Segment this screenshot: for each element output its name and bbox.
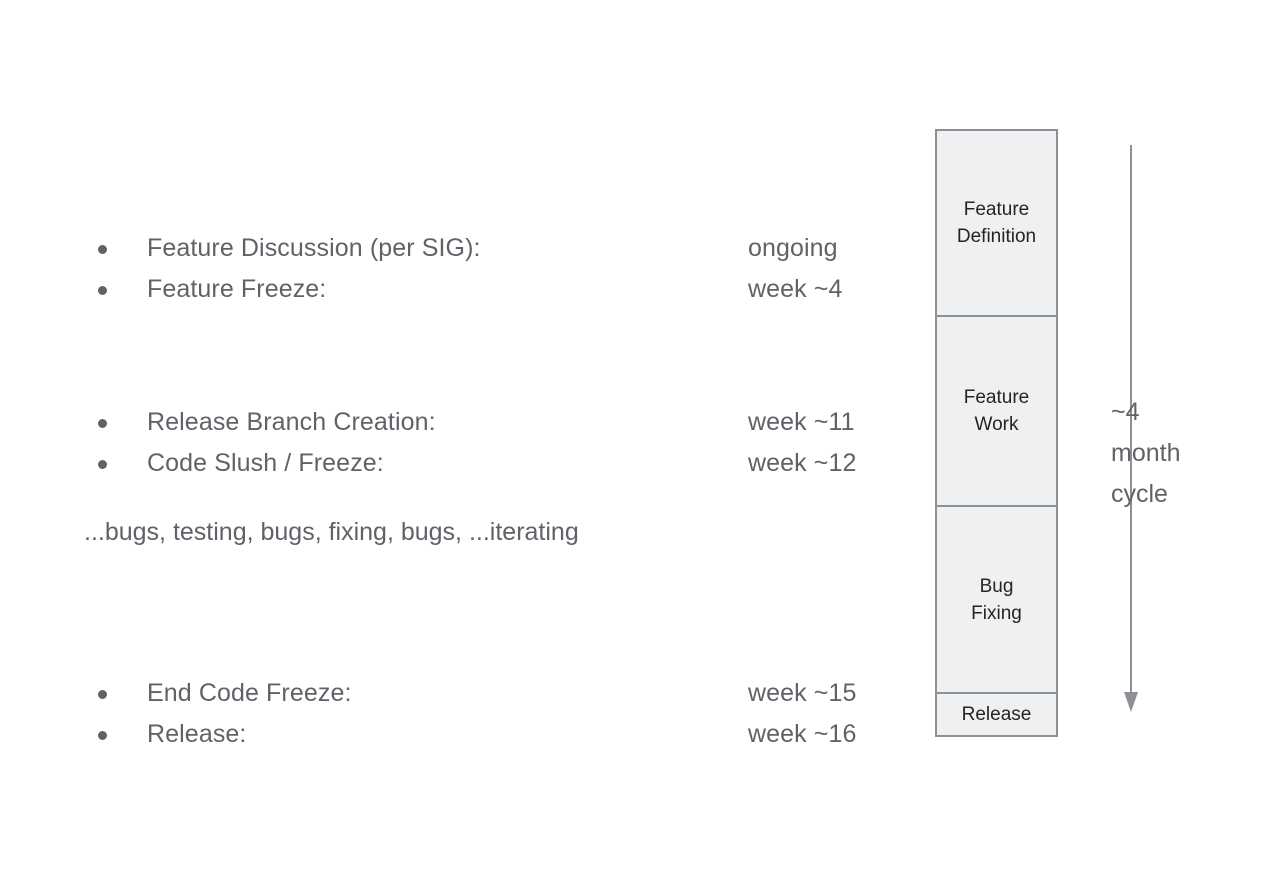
bullet-icon <box>98 460 107 469</box>
phase-label: Release <box>962 701 1032 728</box>
schedule-group-feature-work: Release Branch Creation: week ~11 Code S… <box>88 402 888 553</box>
phase-segment-release: Release <box>937 692 1056 735</box>
schedule-row: End Code Freeze: week ~15 <box>88 673 888 714</box>
schedule-row: Feature Discussion (per SIG): ongoing <box>88 228 888 269</box>
schedule-row-label: Code Slush / Freeze: <box>147 443 384 484</box>
phase-segment-bug-fixing: Bug Fixing <box>937 505 1056 692</box>
schedule-row-value: week ~12 <box>748 443 857 484</box>
phase-label: Bug Fixing <box>971 573 1022 627</box>
release-schedule-list: Feature Discussion (per SIG): ongoing Fe… <box>88 228 888 755</box>
bullet-icon <box>98 286 107 295</box>
phase-label: Feature Work <box>964 384 1029 438</box>
schedule-row: Release Branch Creation: week ~11 <box>88 402 888 443</box>
schedule-row: Feature Freeze: week ~4 <box>88 269 888 310</box>
schedule-row-label: Feature Discussion (per SIG): <box>147 228 481 269</box>
schedule-row: Code Slush / Freeze: week ~12 <box>88 443 888 484</box>
schedule-group-release: End Code Freeze: week ~15 Release: week … <box>88 673 888 755</box>
phase-label: Feature Definition <box>957 196 1036 250</box>
bullet-icon <box>98 690 107 699</box>
schedule-row: Release: week ~16 <box>88 714 888 755</box>
schedule-row-value: week ~11 <box>748 402 855 443</box>
schedule-row-label: End Code Freeze: <box>147 673 352 714</box>
schedule-row-value: week ~16 <box>748 714 857 755</box>
phase-segment-feature-work: Feature Work <box>937 315 1056 505</box>
release-phase-bar: Feature Definition Feature Work Bug Fixi… <box>935 129 1058 737</box>
bullet-icon <box>98 731 107 740</box>
schedule-row-value: ongoing <box>748 228 838 269</box>
bullet-icon <box>98 245 107 254</box>
schedule-row-label: Release: <box>147 714 246 755</box>
phase-segment-feature-definition: Feature Definition <box>937 131 1056 315</box>
schedule-row-label: Feature Freeze: <box>147 269 326 310</box>
bullet-icon <box>98 419 107 428</box>
schedule-row-value: week ~4 <box>748 269 843 310</box>
schedule-group-feature-definition: Feature Discussion (per SIG): ongoing Fe… <box>88 228 888 310</box>
iteration-note: ...bugs, testing, bugs, fixing, bugs, ..… <box>84 512 888 553</box>
schedule-row-label: Release Branch Creation: <box>147 402 436 443</box>
cycle-duration-label: ~4 month cycle <box>1111 392 1180 515</box>
schedule-row-value: week ~15 <box>748 673 857 714</box>
